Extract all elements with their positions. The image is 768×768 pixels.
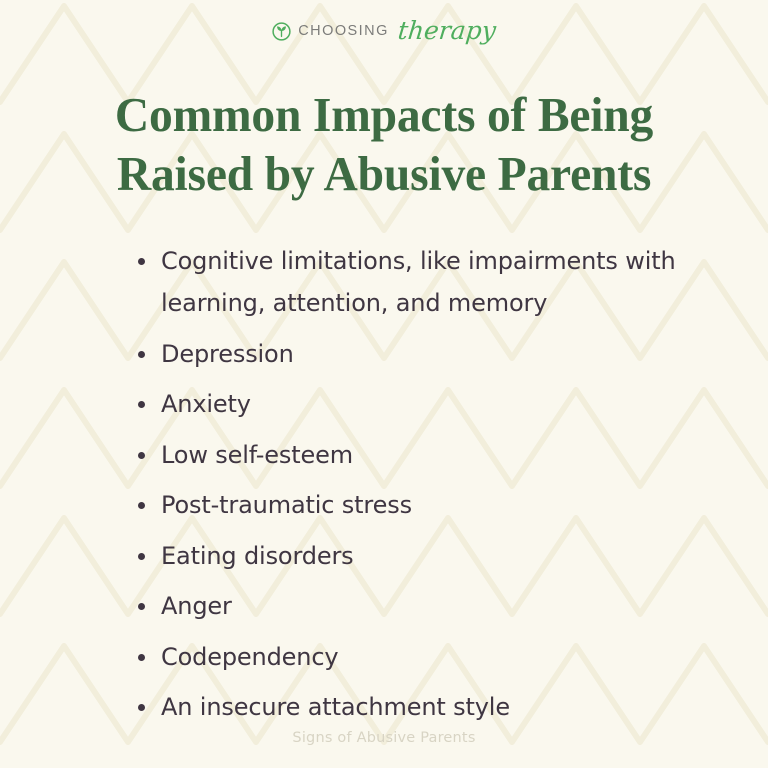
page-title-line-2: Raised by Abusive Parents	[70, 145, 699, 204]
list-item: Post-traumatic stress	[134, 484, 734, 526]
impacts-list: Cognitive limitations, like impairments …	[134, 240, 734, 737]
page-title-line-1: Common Impacts of Being	[70, 86, 699, 145]
brand-word-choosing: CHOOSING	[298, 24, 389, 39]
infographic-poster: CHOOSING therapy Common Impacts of Being…	[0, 0, 768, 768]
leaf-badge-icon	[272, 22, 291, 41]
list-item: Anxiety	[134, 383, 734, 425]
list-item: Low self-esteem	[134, 434, 734, 476]
list-item: Depression	[134, 333, 734, 375]
brand-logo: CHOOSING therapy	[0, 16, 768, 46]
page-title: Common Impacts of Being Raised by Abusiv…	[60, 86, 708, 204]
list-item: Eating disorders	[134, 535, 734, 577]
list-item: Anger	[134, 585, 734, 627]
list-item: Cognitive limitations, like impairments …	[134, 240, 734, 324]
footer-caption: Signs of Abusive Parents	[0, 730, 768, 746]
list-item: An insecure attachment style	[134, 686, 734, 728]
list-item: Codependency	[134, 636, 734, 678]
brand-word-therapy: therapy	[396, 18, 497, 43]
